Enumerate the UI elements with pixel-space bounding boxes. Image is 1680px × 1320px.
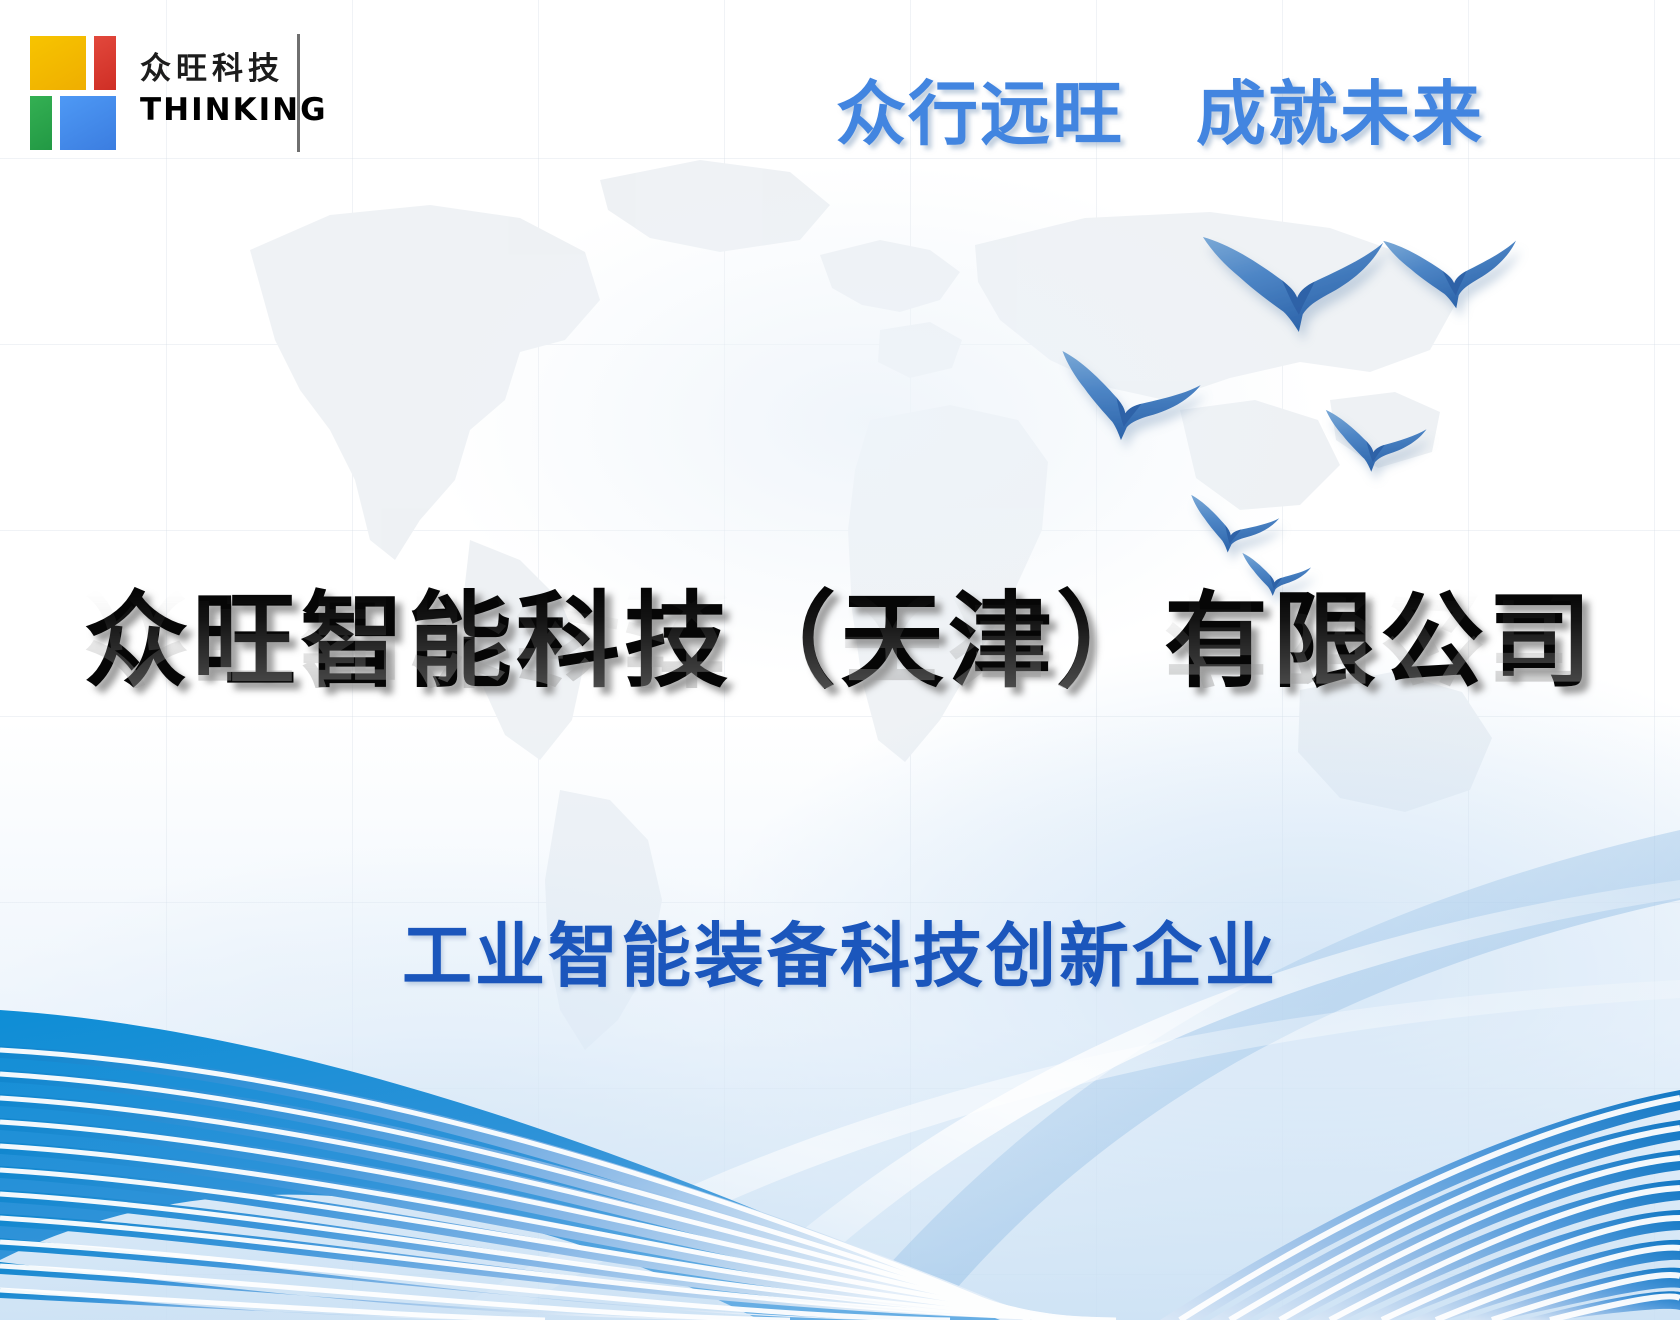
company-logo[interactable]: 众旺科技 THINKING [30, 30, 328, 152]
seagull-4 [1323, 410, 1427, 475]
seagull-3 [1054, 351, 1203, 448]
red-tile-icon [94, 36, 116, 90]
header-tagline: 众行远旺 成就未来 [836, 58, 1484, 159]
main-title-block: 众旺智能科技（天津）有限公司 众旺智能科技（天津）有限公司 [0, 588, 1680, 794]
logo-mark-tiles [30, 30, 124, 152]
green-tile-icon [30, 96, 52, 150]
yellow-tile-icon [30, 36, 86, 90]
page-title-reflection: 众旺智能科技（天津）有限公司 [0, 582, 1680, 688]
seagull-1 [1203, 218, 1392, 341]
logo-divider [297, 34, 300, 152]
presentation-slide: 众旺科技 THINKING 众行远旺 成就未来 众旺智能科技（天津）有限公司 众… [0, 0, 1680, 1320]
blue-tile-icon [60, 96, 116, 150]
background-bottom-tint [0, 720, 1680, 1320]
seagull-2 [1383, 223, 1524, 318]
page-subtitle: 工业智能装备科技创新企业 [0, 900, 1680, 1001]
seagull-5 [1185, 495, 1281, 558]
